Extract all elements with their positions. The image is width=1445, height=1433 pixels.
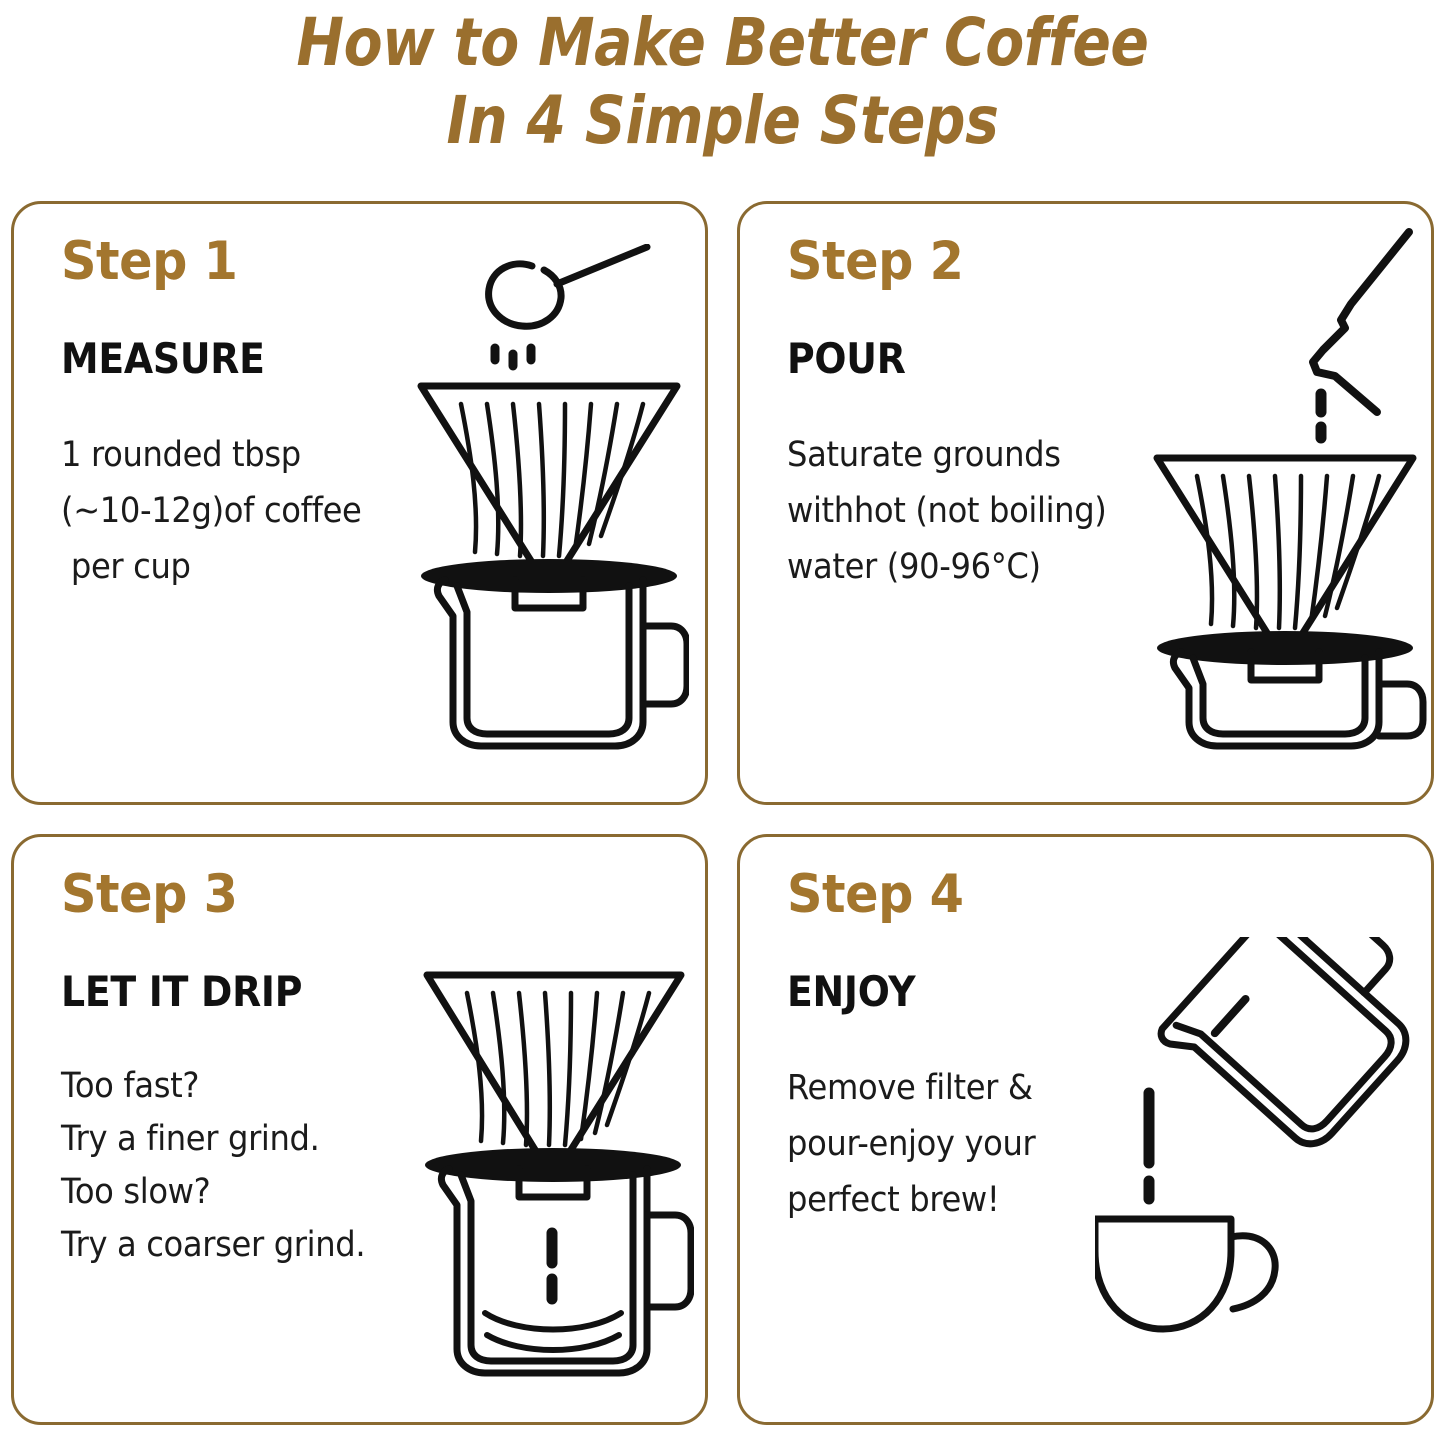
title-line-1: How to Make Better Coffee — [101, 4, 1344, 82]
step-2-body: Saturate grounds withhot (not boiling) w… — [787, 427, 1146, 595]
infographic-page: How to Make Better Coffee In 4 Simple St… — [0, 0, 1445, 1433]
step-card-4-text: Step 4 ENJOY Remove filter & pour-enjoy … — [787, 865, 1177, 1228]
step-3-label: Step 3 — [61, 865, 424, 925]
step-3-action: LET IT DRIP — [61, 968, 412, 1016]
steps-grid: Step 1 MEASURE 1 rounded tbsp (~10-12g)o… — [11, 201, 1434, 1425]
step-2-label: Step 2 — [787, 232, 1150, 292]
page-title: How to Make Better Coffee In 4 Simple St… — [0, 4, 1445, 160]
step-1-label: Step 1 — [61, 232, 424, 292]
step-card-3[interactable]: Step 3 LET IT DRIP Too fast? Try a finer… — [11, 834, 708, 1425]
step-4-body: Remove filter & pour-enjoy your perfect … — [787, 1060, 1146, 1228]
step-3-body: Too fast? Try a finer grind. Too slow? T… — [61, 1060, 420, 1272]
drip-illustration — [409, 967, 694, 1407]
title-line-2: In 4 Simple Steps — [101, 82, 1344, 160]
step-card-2-text: Step 2 POUR Saturate grounds withhot (no… — [787, 232, 1177, 595]
step-card-4[interactable]: Step 4 ENJOY Remove filter & pour-enjoy … — [737, 834, 1434, 1425]
step-4-label: Step 4 — [787, 865, 1150, 925]
step-1-body: 1 rounded tbsp (~10-12g)of coffee per cu… — [61, 427, 420, 595]
step-4-action: ENJOY — [787, 968, 1138, 1016]
step-card-1[interactable]: Step 1 MEASURE 1 rounded tbsp (~10-12g)o… — [11, 201, 708, 805]
step-card-3-text: Step 3 LET IT DRIP Too fast? Try a finer… — [61, 865, 451, 1272]
pour-illustration — [1145, 222, 1430, 762]
step-card-2[interactable]: Step 2 POUR Saturate grounds withhot (no… — [737, 201, 1434, 805]
step-2-action: POUR — [787, 335, 1138, 383]
step-card-1-text: Step 1 MEASURE 1 rounded tbsp (~10-12g)o… — [61, 232, 451, 595]
step-1-action: MEASURE — [61, 335, 412, 383]
measure-illustration — [409, 244, 689, 764]
